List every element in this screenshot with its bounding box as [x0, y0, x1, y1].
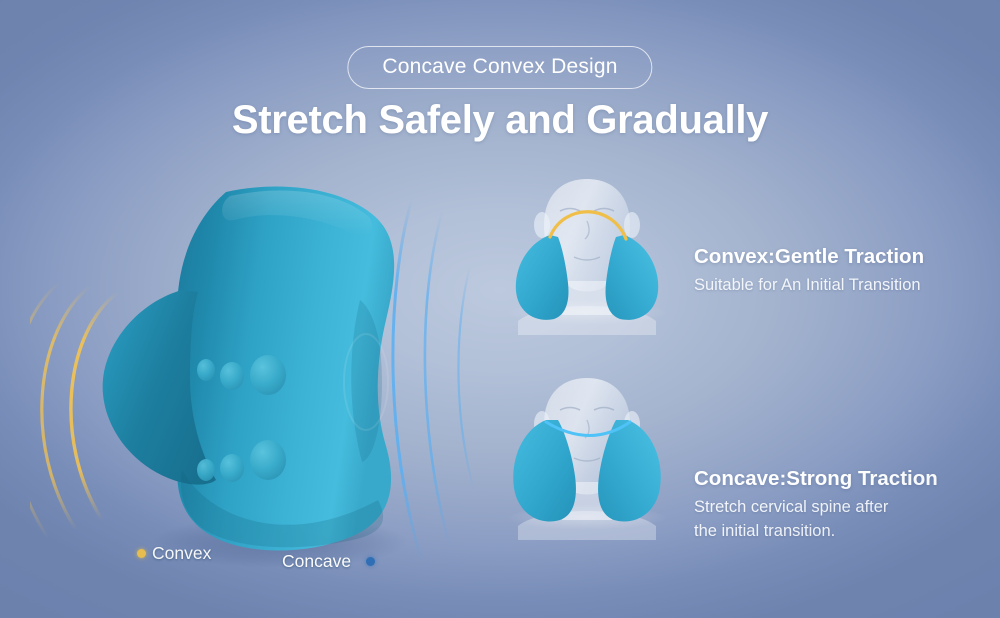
- panel-subtitle-concave-line2: the initial transition.: [694, 520, 938, 544]
- convex-label: Convex: [152, 545, 211, 563]
- concave-figure: [492, 368, 682, 546]
- panel-subtitle-concave-line1: Stretch cervical spine after: [694, 496, 938, 520]
- pillow-wing-right: [606, 235, 659, 320]
- concave-wave-lines: [393, 198, 474, 562]
- convex-marker-dot: [137, 549, 146, 558]
- page-title: Stretch Safely and Gradually: [232, 96, 768, 144]
- convex-figure: [492, 163, 682, 341]
- feature-panel-concave: Concave:Strong Traction Stretch cervical…: [492, 368, 938, 546]
- concave-marker-dot: [366, 557, 375, 566]
- feature-panel-convex: Convex:Gentle Traction Suitable for An I…: [492, 163, 924, 341]
- product-illustration: Convex Concave: [30, 170, 490, 590]
- panel-title-convex: Convex:Gentle Traction: [694, 244, 924, 270]
- convex-wave-arcs: [30, 282, 118, 538]
- concave-label: Concave: [282, 553, 351, 571]
- design-badge: Concave Convex Design: [347, 46, 652, 89]
- pillow-graphic: [30, 170, 490, 590]
- promo-banner: Concave Convex Design Stretch Safely and…: [0, 0, 1000, 618]
- panel-title-concave: Concave:Strong Traction: [694, 466, 938, 492]
- pillow-wing-left: [516, 235, 569, 320]
- panel-subtitle-convex: Suitable for An Initial Transition: [694, 274, 924, 298]
